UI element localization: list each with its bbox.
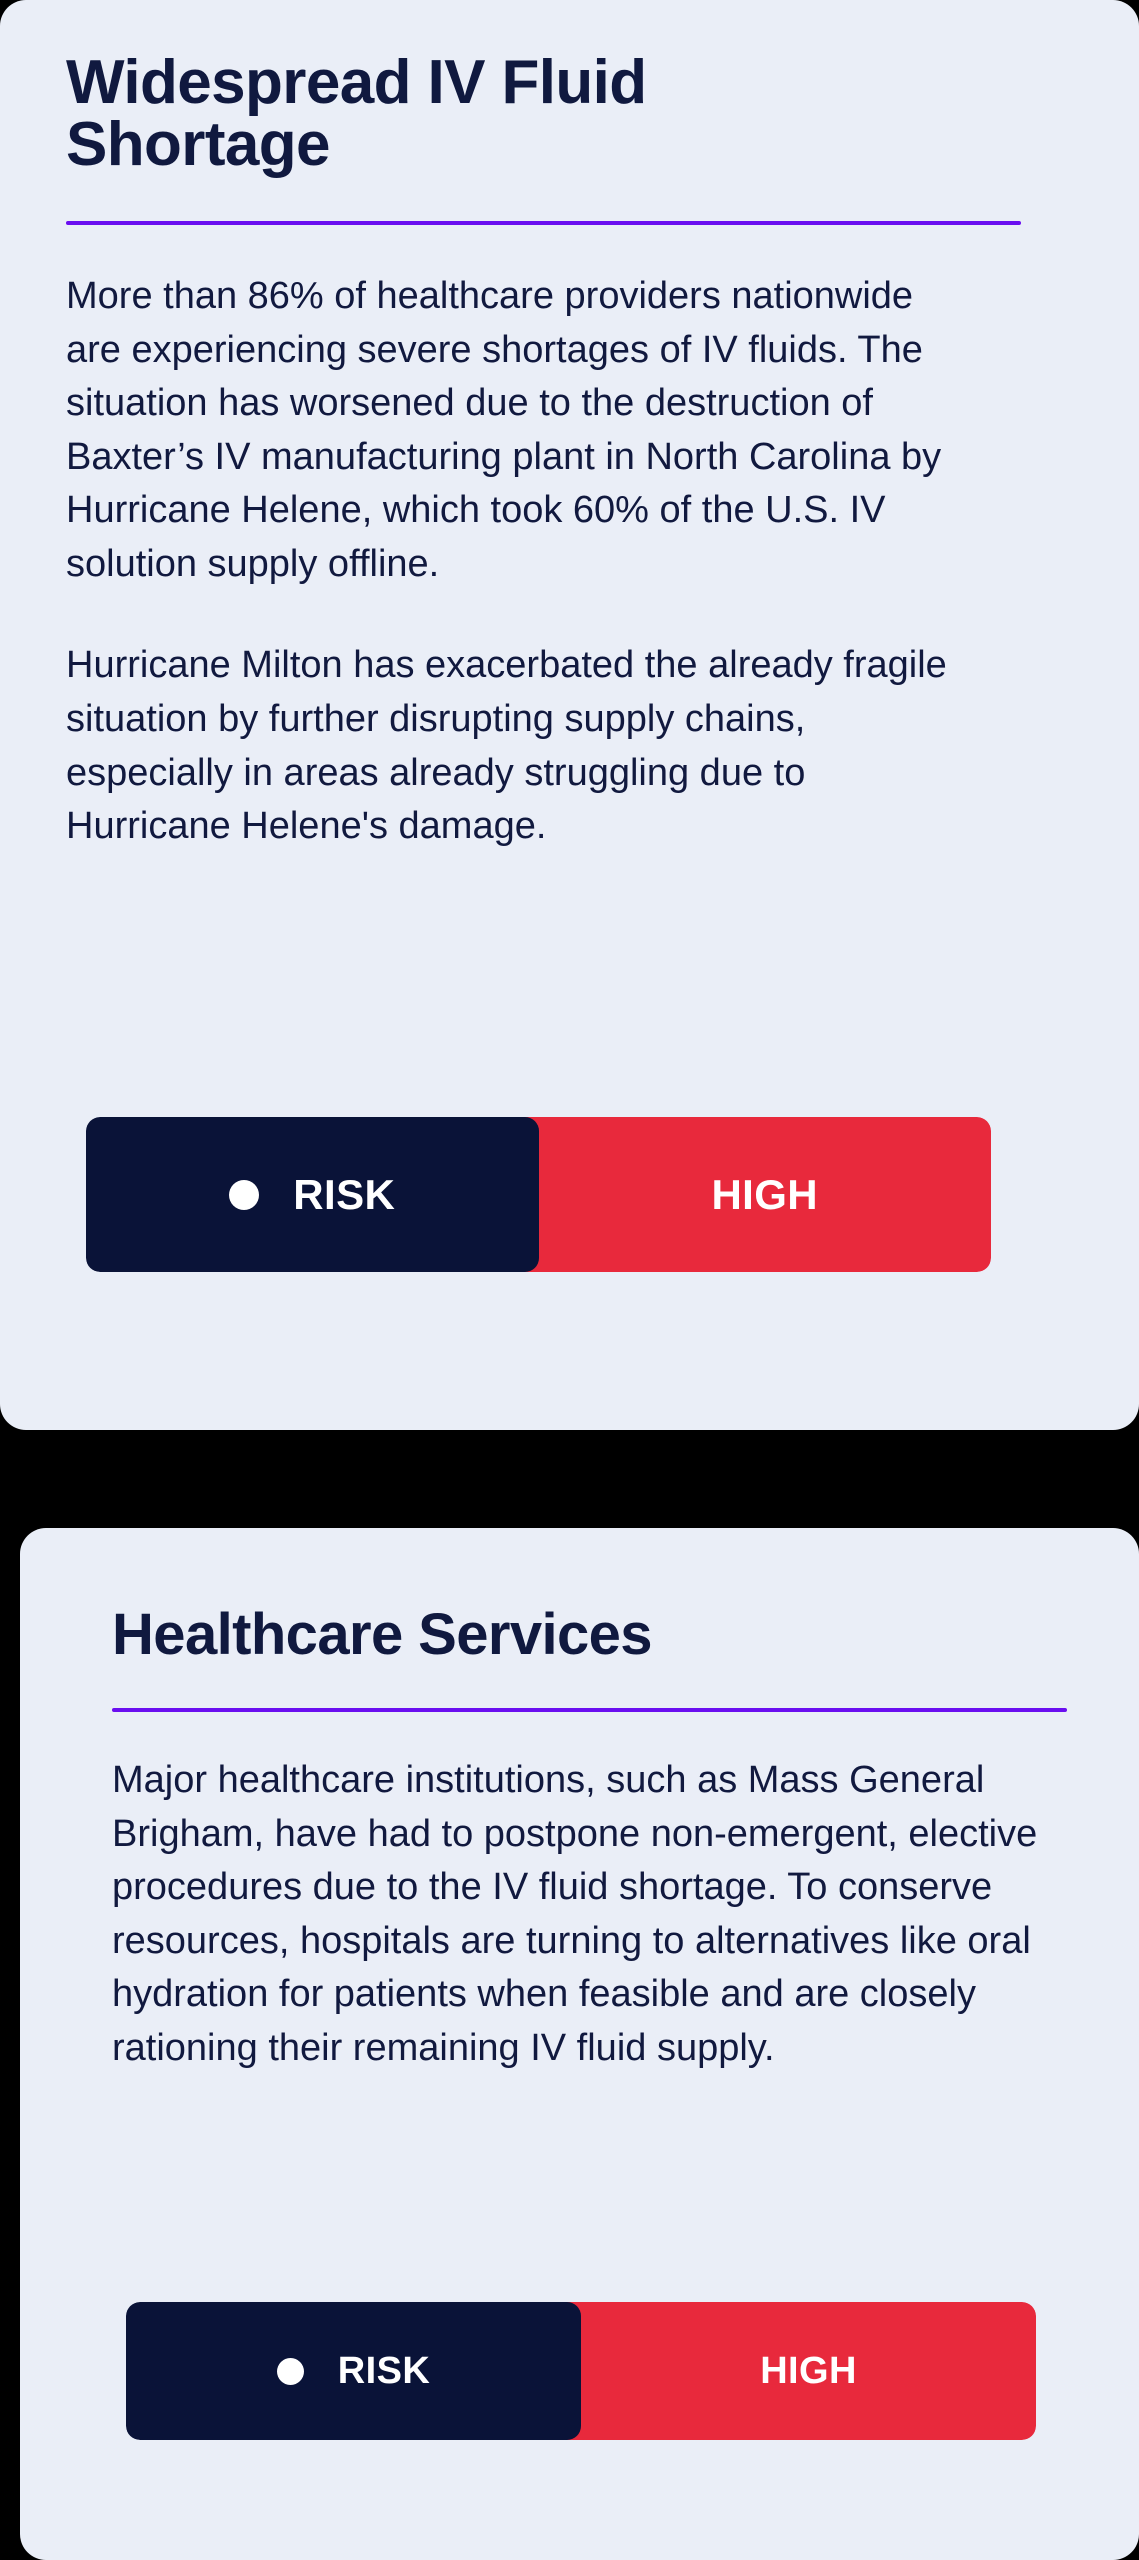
card-body: Major healthcare institutions, such as M… [112,1754,1047,2075]
risk-card-iv-fluid-shortage: Widespread IV Fluid Shortage More than 8… [0,0,1139,1430]
risk-card-healthcare-services: Healthcare Services Major healthcare ins… [20,1528,1139,2560]
card-title: Healthcare Services [112,1606,1047,1664]
risk-badge-label-section: RISK [126,2302,581,2440]
risk-badge-value-section: HIGH [525,1117,992,1272]
risk-badge-label: RISK [293,1171,395,1219]
risk-badge-value: HIGH [760,2350,857,2393]
screen-root: Widespread IV Fluid Shortage More than 8… [0,0,1139,2560]
card-paragraph: Major healthcare institutions, such as M… [112,1754,1047,2075]
card-title: Widespread IV Fluid Shortage [66,52,886,176]
risk-badge[interactable]: RISK HIGH [126,2302,1036,2440]
accent-divider [66,221,1021,225]
card-paragraph: More than 86% of healthcare providers na… [66,270,971,591]
risk-badge-label: RISK [338,2350,430,2393]
status-dot-icon [277,2358,304,2385]
card-paragraph: Hurricane Milton has exacerbated the alr… [66,639,971,853]
risk-badge-value: HIGH [711,1171,818,1219]
risk-badge-value-section: HIGH [567,2302,1036,2440]
accent-divider [112,1708,1067,1712]
card-body: More than 86% of healthcare providers na… [66,270,971,854]
risk-badge[interactable]: RISK HIGH [86,1117,991,1272]
risk-badge-label-section: RISK [86,1117,539,1272]
card-separator-band [0,1430,1139,1528]
status-dot-icon [229,1180,259,1210]
